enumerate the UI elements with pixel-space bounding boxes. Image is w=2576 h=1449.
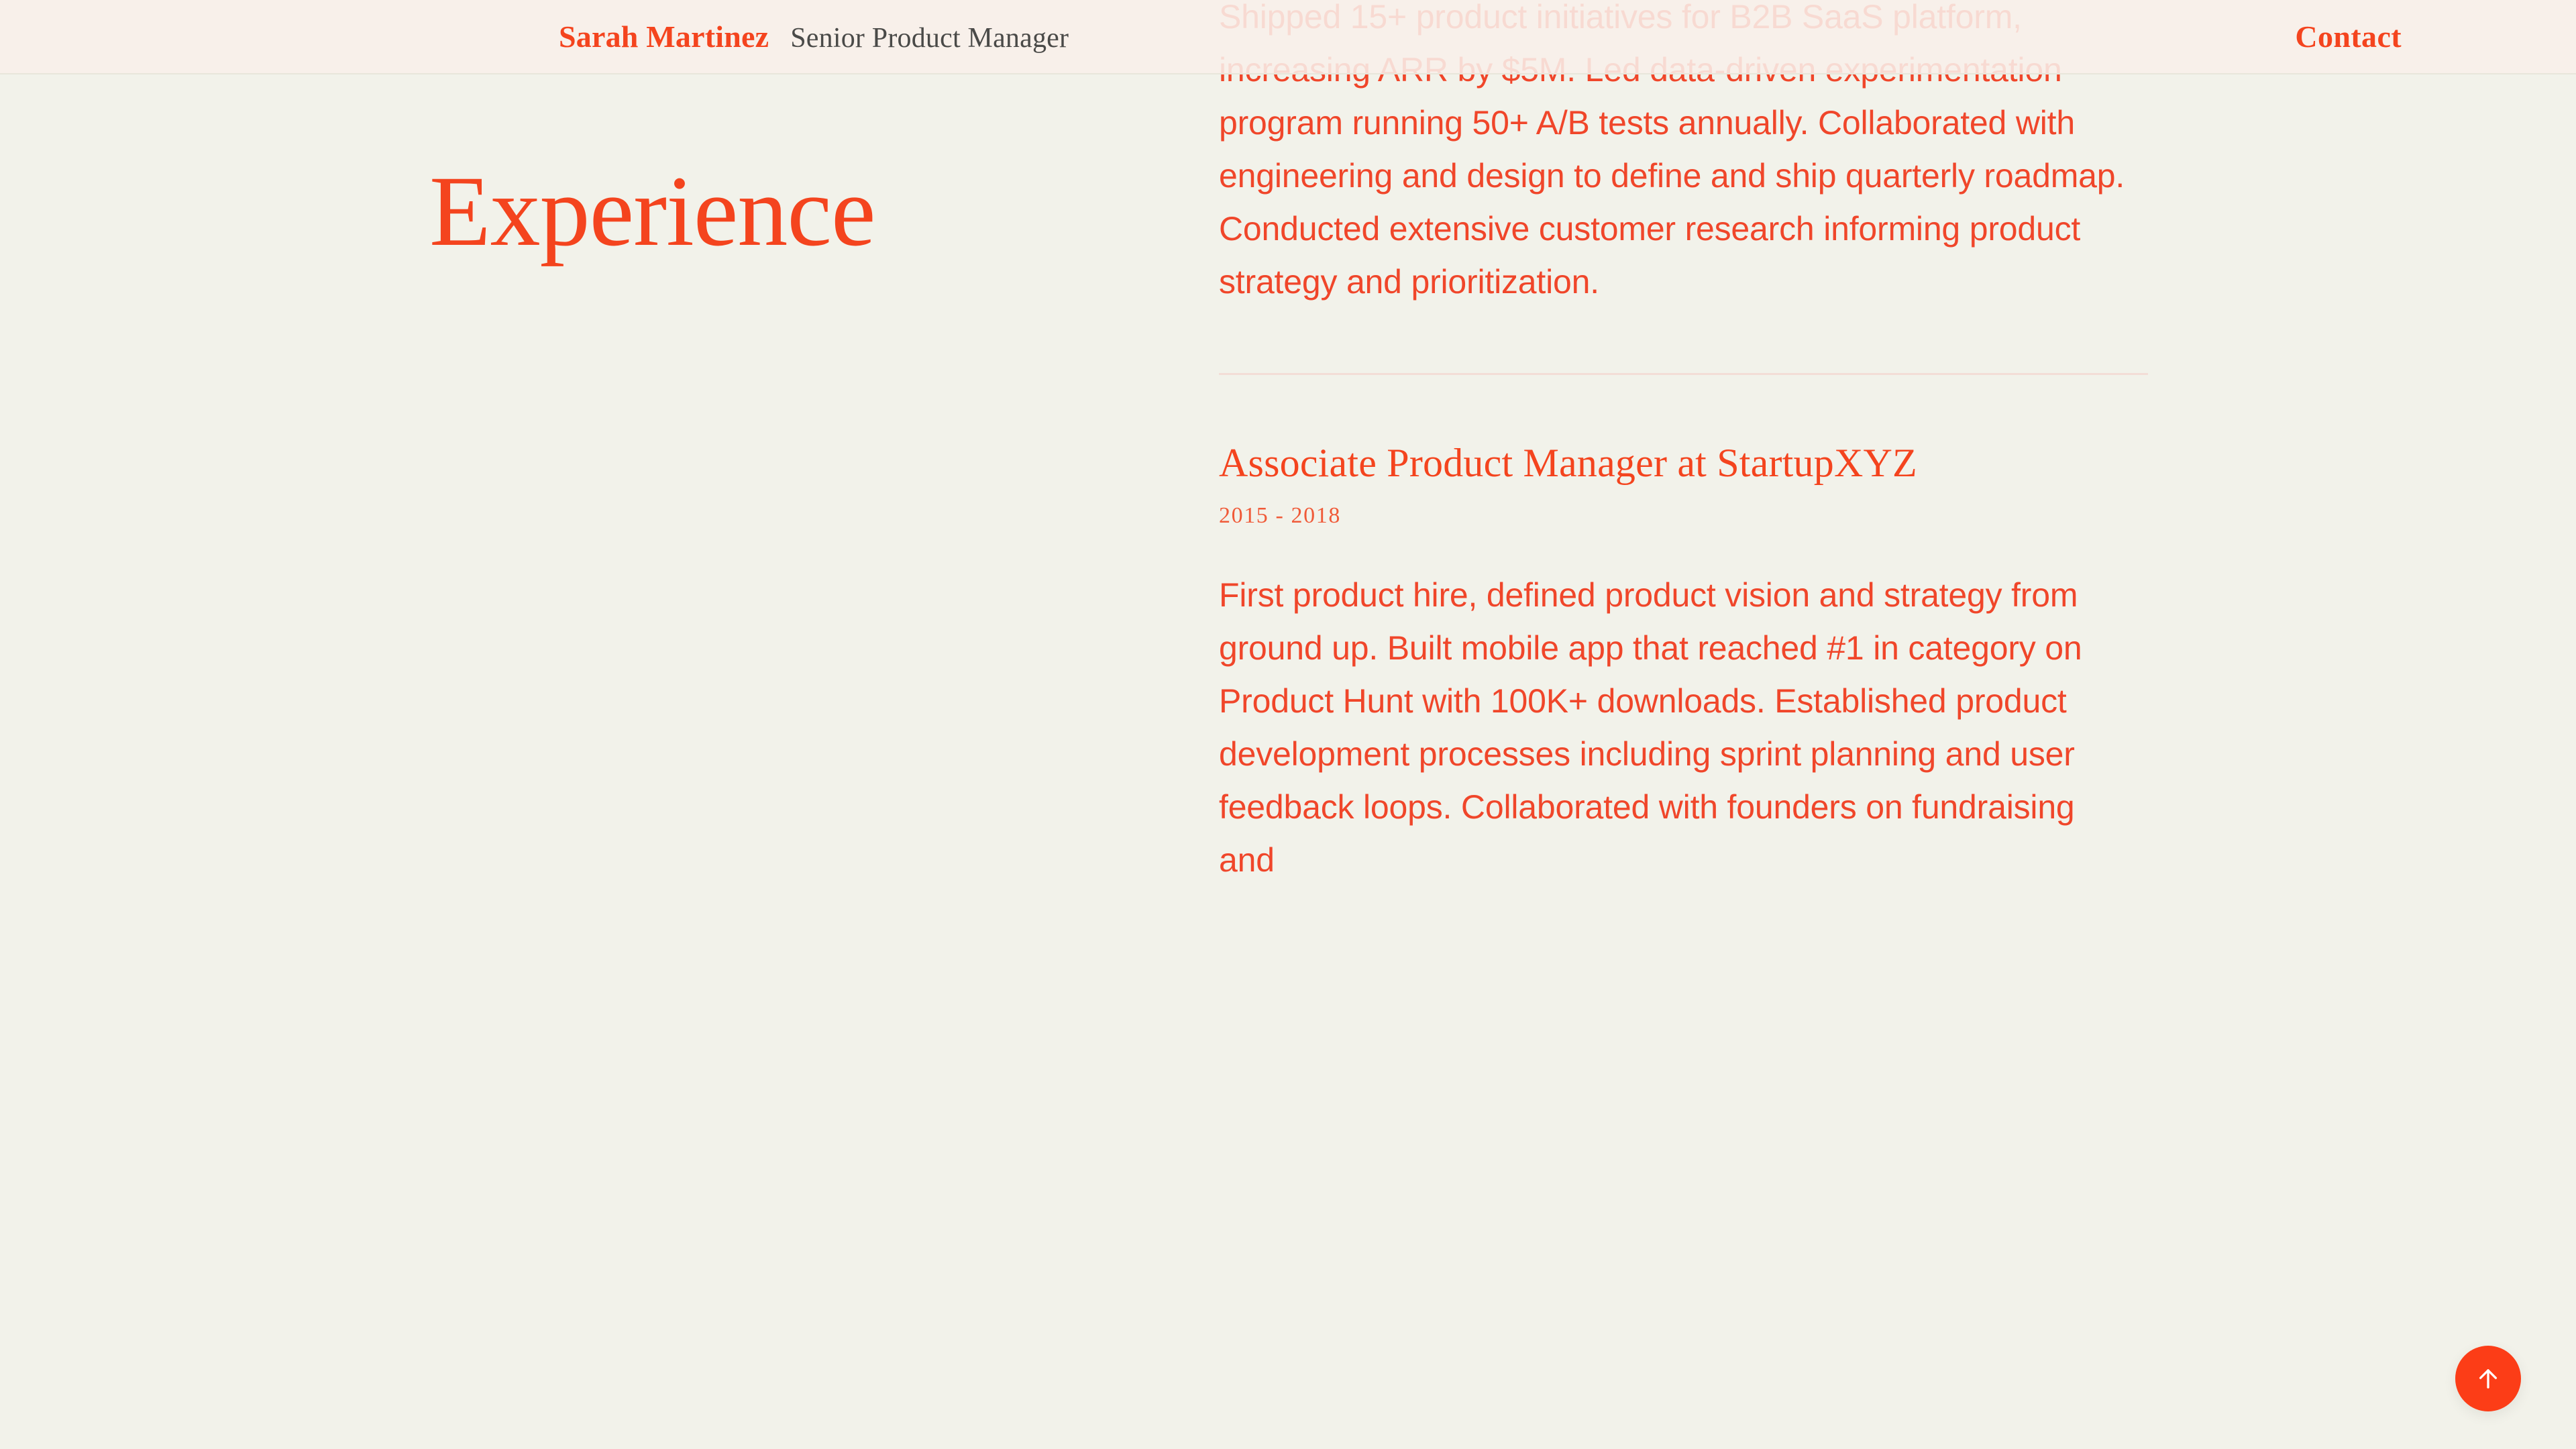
entry-date-range: 2015 - 2018: [1219, 504, 2151, 527]
entry-divider: [1219, 373, 2148, 375]
brand-block[interactable]: Sarah Martinez Senior Product Manager: [559, 21, 1069, 52]
experience-entry: Associate Product Manager at StartupXYZ …: [1219, 439, 2151, 887]
experience-entry-stack: engineers, designers, and analysts. Defi…: [1219, 0, 2151, 887]
page-layout: Experience engineers, designers, and ana…: [0, 0, 2576, 1449]
page-title: Experience: [429, 161, 875, 262]
arrow-up-icon: [2474, 1364, 2502, 1393]
brand-name[interactable]: Sarah Martinez: [559, 21, 769, 52]
site-header: Sarah Martinez Senior Product Manager Co…: [0, 0, 2576, 74]
scroll-to-top-button[interactable]: [2455, 1346, 2521, 1411]
entry-job-title: Associate Product Manager at StartupXYZ: [1219, 439, 2151, 487]
page-root: Experience engineers, designers, and ana…: [0, 0, 2576, 1449]
left-column: Experience: [0, 0, 1214, 1449]
entry-description: First product hire, defined product visi…: [1219, 569, 2128, 887]
brand-role: Senior Product Manager: [790, 24, 1069, 52]
nav-link-contact[interactable]: Contact: [2295, 21, 2402, 52]
